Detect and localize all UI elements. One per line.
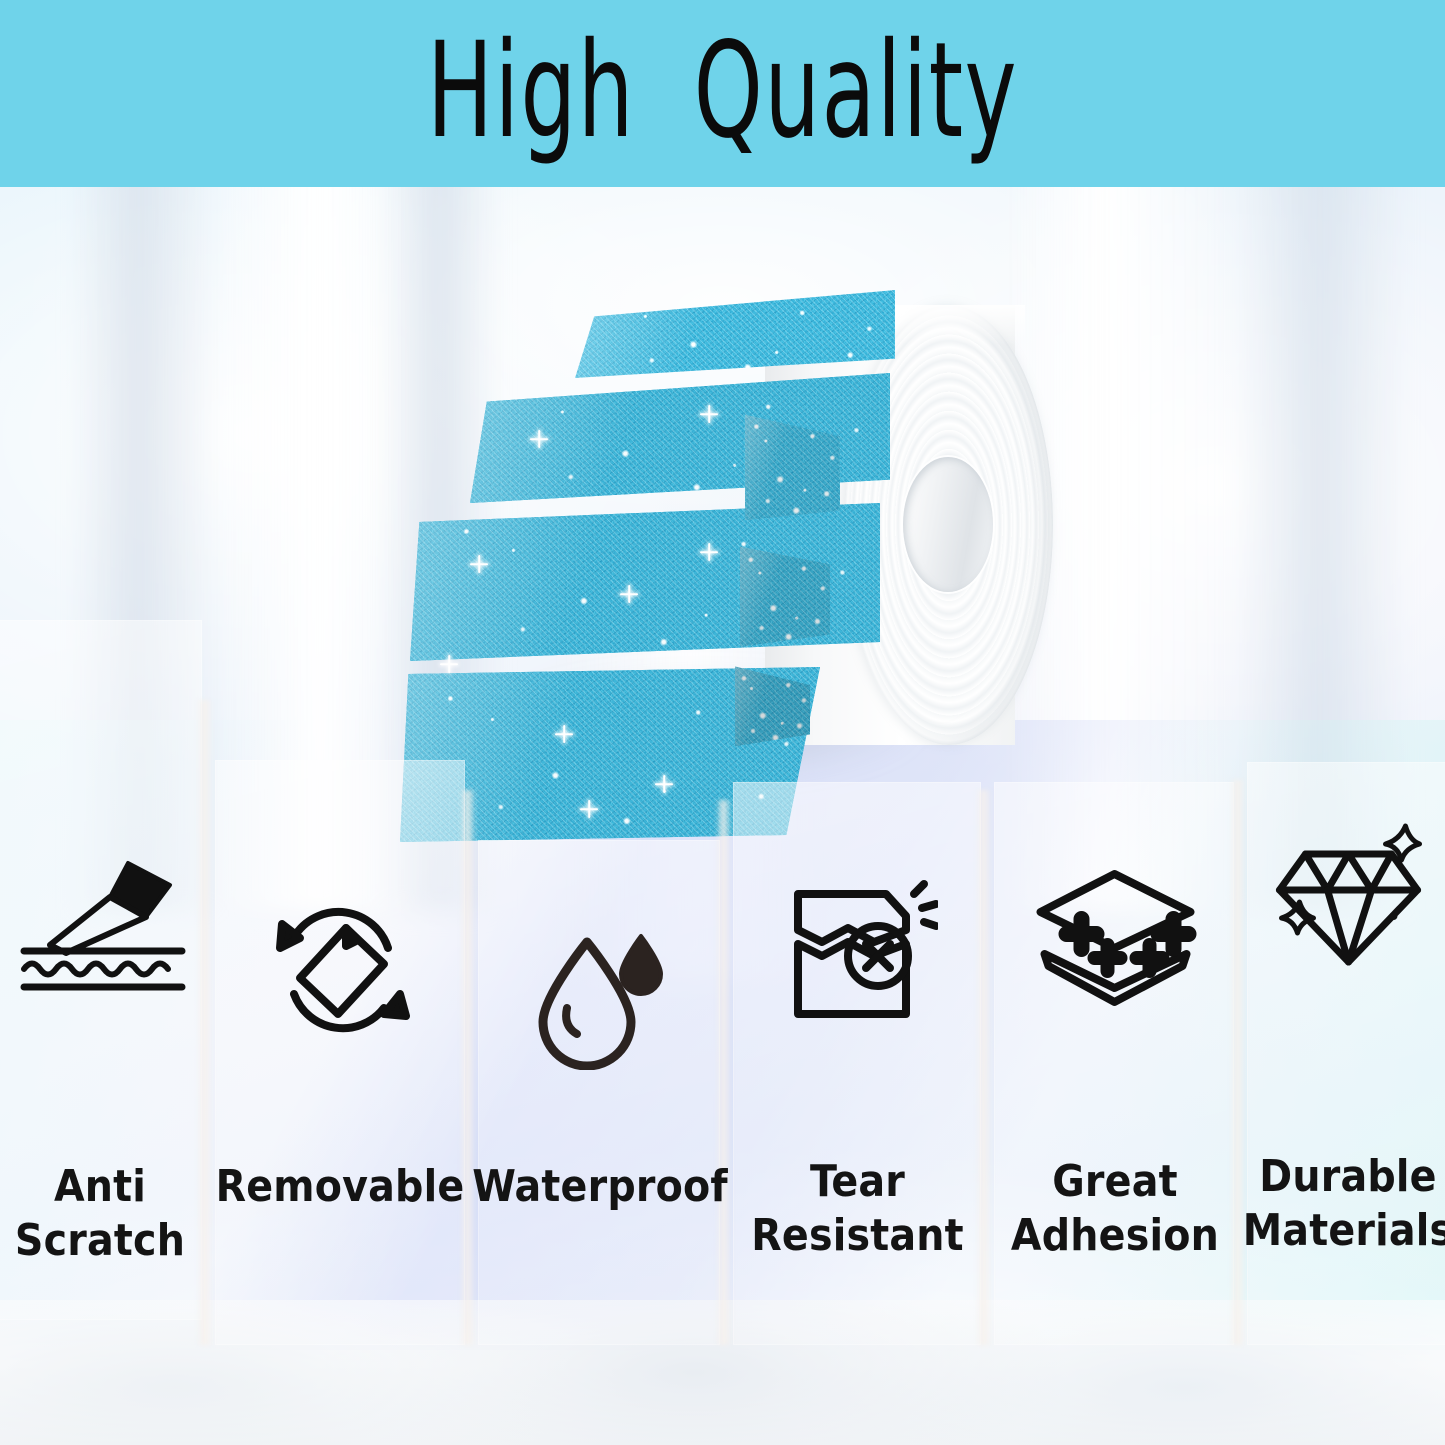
panel-seam: [460, 790, 476, 1345]
feature-label: Removable: [210, 1160, 470, 1214]
great-adhesion-icon: [1033, 860, 1198, 1010]
removable-icon: [260, 890, 420, 1050]
feature-tear-resistant: Tear Resistant: [735, 800, 980, 1345]
feature-label: Waterproof: [470, 1160, 730, 1214]
product-marketing-image: High Quality: [0, 0, 1445, 1445]
feature-anti-scratch: Anti Scratch: [0, 640, 200, 1300]
feature-waterproof: Waterproof: [480, 860, 720, 1340]
anti-scratch-icon: [10, 845, 190, 1005]
feature-label: Anti Scratch: [0, 1160, 230, 1268]
feature-great-adhesion: Great Adhesion: [995, 800, 1235, 1345]
feature-removable: Removable: [220, 780, 460, 1340]
feature-panels: Anti Scratch Removable: [0, 0, 1445, 1445]
feature-durable-materials: Durable Materials: [1248, 780, 1445, 1345]
waterproof-icon: [525, 920, 675, 1070]
feature-label: Durable Materials: [1218, 1150, 1445, 1258]
feature-label: Tear Resistant: [728, 1155, 988, 1263]
feature-label: Great Adhesion: [985, 1155, 1245, 1263]
durable-materials-icon: [1266, 820, 1431, 980]
tear-resistant-icon: [778, 880, 938, 1035]
